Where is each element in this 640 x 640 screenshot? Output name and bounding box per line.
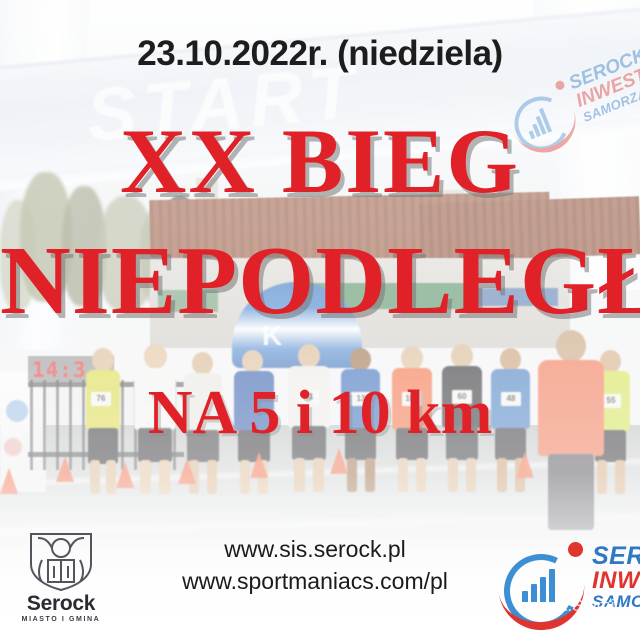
watermark-dot-icon [554,79,566,91]
crest-name: Serock [18,592,104,616]
website-urls: www.sis.serock.pl www.sportmaniacs.com/p… [150,534,480,597]
race-poster: START K 14:3 [0,0,640,640]
title-line-2: NIEPODLEGŁOŚCI [0,225,640,337]
sponsor-bar-chart-icon [522,568,555,602]
url-registration[interactable]: www.sportmaniacs.com/pl [150,566,480,598]
sponsor-line-2: INWESTYCJE [592,569,640,593]
event-date: 23.10.2022r. (niedziela) [0,34,640,74]
title-line-1: XX BIEG [0,108,640,214]
photo-credit: A.Siemi [556,596,615,616]
race-distances: NA 5 i 10 km [0,378,640,449]
crest-subtitle: MIASTO I GMINA [18,616,104,623]
url-primary[interactable]: www.sis.serock.pl [150,534,480,566]
sponsor-line-1: SEROCK [592,544,640,569]
sponsor-dot-icon [568,542,583,557]
